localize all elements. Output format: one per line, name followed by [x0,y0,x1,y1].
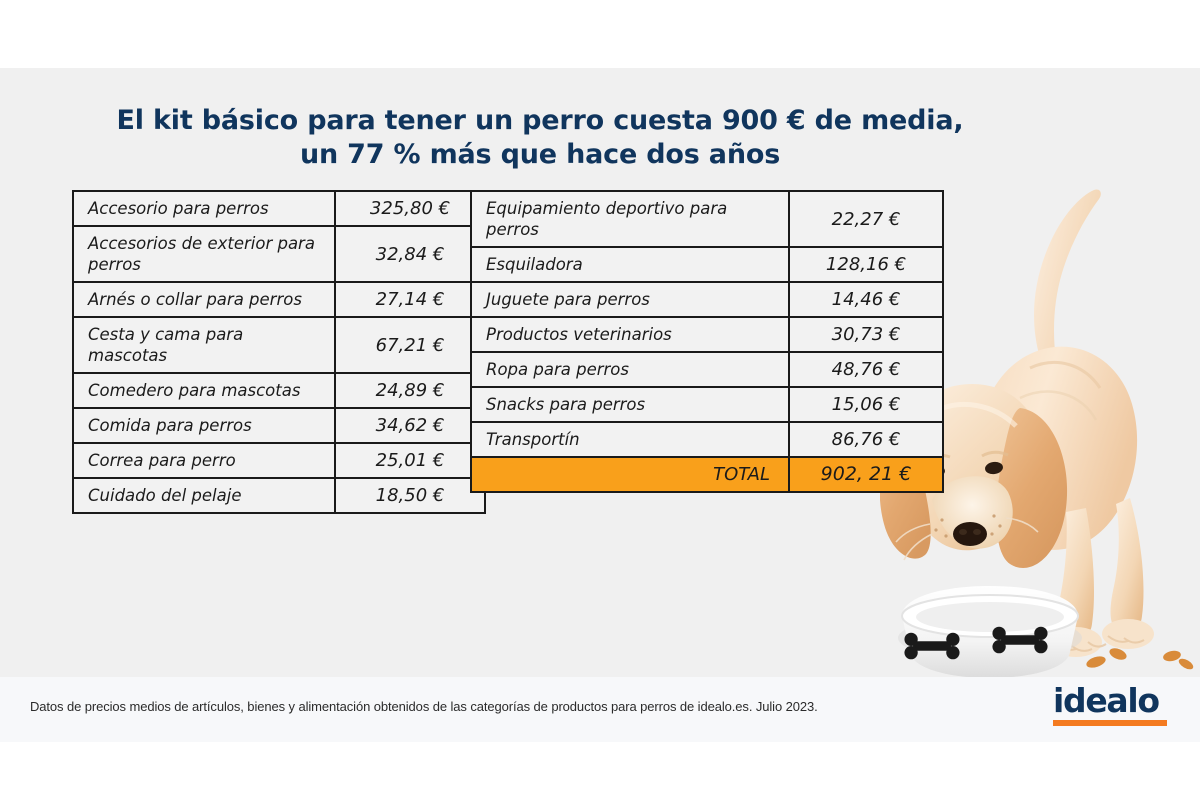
item-label: Accesorio para perros [73,191,335,226]
footer-source-note: Datos de precios medios de artículos, bi… [30,699,818,714]
item-label: Juguete para perros [471,282,789,317]
item-price: 325,80 € [335,191,485,226]
item-label: Cesta y cama para mascotas [73,317,335,373]
item-price: 24,89 € [335,373,485,408]
item-label: Arnés o collar para perros [73,282,335,317]
table-row: Correa para perro 25,01 € [73,443,485,478]
table-row: Productos veterinarios 30,73 € [471,317,943,352]
item-label: Accesorios de exterior para perros [73,226,335,282]
item-label: Productos veterinarios [471,317,789,352]
idealo-logo: idealo [1053,684,1169,726]
table-row: Ropa para perros 48,76 € [471,352,943,387]
total-label: TOTAL [471,457,789,492]
item-label: Comedero para mascotas [73,373,335,408]
table-row: Equipamiento deportivo para perros 22,27… [471,191,943,247]
item-label: Snacks para perros [471,387,789,422]
item-price: 14,46 € [789,282,943,317]
item-price: 15,06 € [789,387,943,422]
table-row: Transportín 86,76 € [471,422,943,457]
table-row: Snacks para perros 15,06 € [471,387,943,422]
item-label: Transportín [471,422,789,457]
total-price: 902, 21 € [789,457,943,492]
item-price: 30,73 € [789,317,943,352]
price-table-right: Equipamiento deportivo para perros 22,27… [470,190,944,493]
item-price: 48,76 € [789,352,943,387]
item-price: 128,16 € [789,247,943,282]
item-price: 27,14 € [335,282,485,317]
item-label: Cuidado del pelaje [73,478,335,513]
table-row: Comida para perros 34,62 € [73,408,485,443]
table-row: Accesorios de exterior para perros 32,84… [73,226,485,282]
page-title: El kit básico para tener un perro cuesta… [60,104,1020,172]
item-label: Ropa para perros [471,352,789,387]
table-row: Cuidado del pelaje 18,50 € [73,478,485,513]
item-label: Correa para perro [73,443,335,478]
table-row: Esquiladora 128,16 € [471,247,943,282]
table-row-total: TOTAL 902, 21 € [471,457,943,492]
item-price: 18,50 € [335,478,485,513]
item-price: 32,84 € [335,226,485,282]
price-table-left-body: Accesorio para perros 325,80 € Accesorio… [73,191,485,513]
price-table-left: Accesorio para perros 325,80 € Accesorio… [72,190,486,514]
item-price: 34,62 € [335,408,485,443]
item-label: Comida para perros [73,408,335,443]
infographic-canvas: El kit básico para tener un perro cuesta… [0,0,1200,800]
item-price: 22,27 € [789,191,943,247]
title-line-2: un 77 % más que hace dos años [60,138,1020,172]
item-price: 25,01 € [335,443,485,478]
table-row: Cesta y cama para mascotas 67,21 € [73,317,485,373]
item-label: Esquiladora [471,247,789,282]
table-row: Juguete para perros 14,46 € [471,282,943,317]
idealo-logo-bar [1053,720,1167,726]
item-price: 86,76 € [789,422,943,457]
table-row: Accesorio para perros 325,80 € [73,191,485,226]
item-label: Equipamiento deportivo para perros [471,191,789,247]
table-row: Arnés o collar para perros 27,14 € [73,282,485,317]
price-table-right-body: Equipamiento deportivo para perros 22,27… [471,191,943,492]
item-price: 67,21 € [335,317,485,373]
idealo-logo-text: idealo [1053,684,1169,717]
title-line-1: El kit básico para tener un perro cuesta… [60,104,1020,138]
table-row: Comedero para mascotas 24,89 € [73,373,485,408]
